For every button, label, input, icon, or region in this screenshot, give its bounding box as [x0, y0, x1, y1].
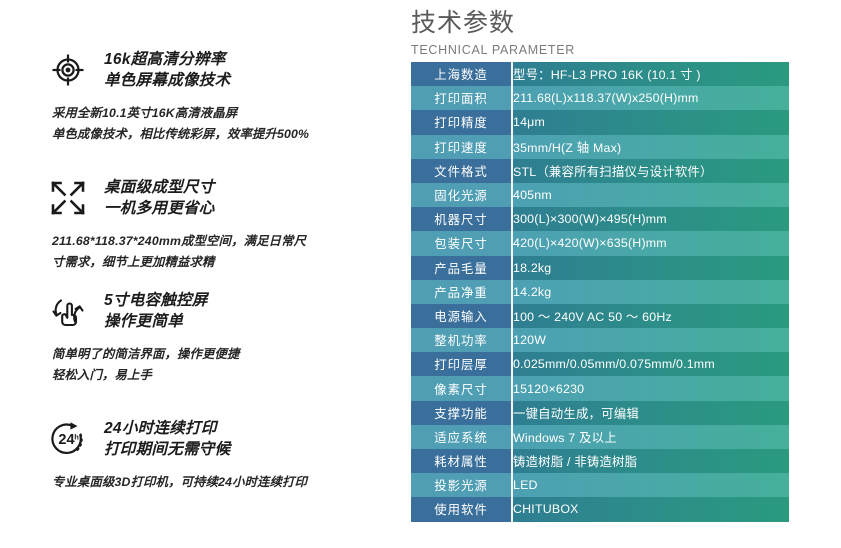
spec-row-value: 18.2kg [512, 256, 789, 280]
spec-row-value: 型号：HF-L3 PRO 16K (10.1 寸 ) [512, 62, 789, 86]
feature-title-line: 一机多用更省心 [104, 198, 215, 219]
spec-row: 整机功率120W [411, 328, 789, 352]
spec-row: 文件格式STL（兼容所有扫描仪与设计软件） [411, 159, 789, 183]
expand-arrows-icon [46, 176, 90, 220]
spec-row: 打印层厚0.025mm/0.05mm/0.075mm/0.1mm [411, 352, 789, 376]
spec-row-value: CHITUBOX [512, 497, 789, 521]
spec-row-value: 211.68(L)x118.37(W)x250(H)mm [512, 86, 789, 110]
spec-row-value: 100 ～ 240V AC 50 ～ 60Hz [512, 304, 789, 328]
spec-row: 上海数造型号：HF-L3 PRO 16K (10.1 寸 ) [411, 62, 789, 86]
svg-text:24: 24 [58, 432, 74, 448]
spec-row-value: 300(L)×300(W)×495(H)mm [512, 207, 789, 231]
spec-row-label: 包装尺寸 [411, 231, 512, 255]
spec-row-value: 一键自动生成，可编辑 [512, 401, 789, 425]
spec-row-value: LED [512, 473, 789, 497]
spec-row: 适应系统Windows 7 及以上 [411, 425, 789, 449]
spec-row-label: 整机功率 [411, 328, 512, 352]
feature-heading: 桌面级成型尺寸 一机多用更省心 [46, 176, 386, 220]
spec-row: 固化光源405nm [411, 183, 789, 207]
feature-block-24h-printing: 24 h 24小时连续打印 打印期间无需守候 专业桌面级3D打印机，可持续24小… [46, 417, 386, 493]
feature-title: 桌面级成型尺寸 一机多用更省心 [104, 177, 215, 219]
spec-row-label: 固化光源 [411, 183, 512, 207]
spec-row-label: 产品毛量 [411, 256, 512, 280]
feature-description: 采用全新10.1英寸16K高清液晶屏 单色成像技术，相比传统彩屏，效率提升500… [52, 103, 386, 145]
spec-title-english: TECHNICAL PARAMETER [411, 42, 575, 58]
spec-row-value: 14.2kg [512, 280, 789, 304]
features-column: 16k超高清分辨率 单色屏幕成像技术 采用全新10.1英寸16K高清液晶屏 单色… [0, 0, 400, 548]
spec-row-label: 产品净重 [411, 280, 512, 304]
spec-row-label: 打印面积 [411, 86, 512, 110]
spec-row-value: Windows 7 及以上 [512, 425, 789, 449]
spec-row: 机器尺寸300(L)×300(W)×495(H)mm [411, 207, 789, 231]
spec-row-value: 120W [512, 328, 789, 352]
svg-text:h: h [74, 433, 79, 442]
feature-title: 5寸电容触控屏 操作更简单 [104, 290, 208, 332]
feature-title-line: 桌面级成型尺寸 [104, 177, 215, 198]
spec-row: 产品净重14.2kg [411, 280, 789, 304]
spec-row-value: 405nm [512, 183, 789, 207]
feature-block-touchscreen: 5寸电容触控屏 操作更简单 简单明了的简洁界面，操作更便捷 轻松入门，易上手 [46, 289, 386, 386]
feature-heading: 5寸电容触控屏 操作更简单 [46, 289, 386, 333]
spec-row-label: 投影光源 [411, 473, 512, 497]
spec-row: 包装尺寸420(L)×420(W)×635(H)mm [411, 231, 789, 255]
feature-description: 211.68*118.37*240mm成型空间，满足日常尺 寸需求，细节上更加精… [52, 231, 386, 273]
specification-table-body: 上海数造型号：HF-L3 PRO 16K (10.1 寸 )打印面积211.68… [411, 62, 789, 522]
spec-row-label: 适应系统 [411, 425, 512, 449]
spec-row-value: 铸造树脂 / 非铸造树脂 [512, 449, 789, 473]
feature-desc-line: 简单明了的简洁界面，操作更便捷 [52, 344, 386, 365]
spec-header: 技术参数 TECHNICAL PARAMETER [411, 8, 575, 58]
feature-description: 简单明了的简洁界面，操作更便捷 轻松入门，易上手 [52, 344, 386, 386]
spec-row: 使用软件CHITUBOX [411, 497, 789, 521]
spec-row-label: 打印精度 [411, 110, 512, 134]
feature-desc-line: 专业桌面级3D打印机，可持续24小时连续打印 [52, 472, 386, 493]
feature-title: 24小时连续打印 打印期间无需守候 [104, 418, 230, 460]
spec-row-label: 打印速度 [411, 135, 512, 159]
spec-row-label: 电源输入 [411, 304, 512, 328]
spec-row-value: STL（兼容所有扫描仪与设计软件） [512, 159, 789, 183]
feature-title-line: 操作更简单 [104, 311, 208, 332]
feature-title-line: 打印期间无需守候 [104, 439, 230, 460]
touch-gesture-icon [46, 289, 90, 333]
feature-title-line: 单色屏幕成像技术 [104, 70, 230, 91]
spec-row-value: 15120×6230 [512, 376, 789, 400]
spec-row-label: 上海数造 [411, 62, 512, 86]
feature-desc-line: 寸需求，细节上更加精益求精 [52, 252, 386, 273]
spec-row-label: 像素尺寸 [411, 376, 512, 400]
spec-row-value: 14μm [512, 110, 789, 134]
crosshair-target-icon [46, 48, 90, 92]
spec-row: 像素尺寸15120×6230 [411, 376, 789, 400]
feature-description: 专业桌面级3D打印机，可持续24小时连续打印 [52, 472, 386, 493]
spec-row-label: 使用软件 [411, 497, 512, 521]
twentyfour-hour-icon: 24 h [46, 417, 90, 461]
spec-row: 打印速度35mm/H(Z 轴 Max) [411, 135, 789, 159]
spec-row-label: 打印层厚 [411, 352, 512, 376]
feature-block-build-size: 桌面级成型尺寸 一机多用更省心 211.68*118.37*240mm成型空间，… [46, 176, 386, 273]
feature-title-line: 24小时连续打印 [104, 418, 230, 439]
spec-row-value: 420(L)×420(W)×635(H)mm [512, 231, 789, 255]
specification-table: 上海数造型号：HF-L3 PRO 16K (10.1 寸 )打印面积211.68… [411, 62, 789, 522]
feature-heading: 24 h 24小时连续打印 打印期间无需守候 [46, 417, 386, 461]
feature-desc-line: 采用全新10.1英寸16K高清液晶屏 [52, 103, 386, 124]
spec-row-value: 35mm/H(Z 轴 Max) [512, 135, 789, 159]
feature-desc-line: 单色成像技术，相比传统彩屏，效率提升500% [52, 124, 386, 145]
feature-title: 16k超高清分辨率 单色屏幕成像技术 [104, 49, 230, 91]
spec-row: 打印面积211.68(L)x118.37(W)x250(H)mm [411, 86, 789, 110]
feature-desc-line: 轻松入门，易上手 [52, 365, 386, 386]
spec-row: 投影光源LED [411, 473, 789, 497]
feature-heading: 16k超高清分辨率 单色屏幕成像技术 [46, 48, 386, 92]
feature-title-line: 5寸电容触控屏 [104, 290, 208, 311]
spec-row: 耗材属性铸造树脂 / 非铸造树脂 [411, 449, 789, 473]
spec-row: 支撑功能一键自动生成，可编辑 [411, 401, 789, 425]
spec-title-chinese: 技术参数 [411, 8, 575, 39]
spec-row: 打印精度14μm [411, 110, 789, 134]
feature-block-resolution: 16k超高清分辨率 单色屏幕成像技术 采用全新10.1英寸16K高清液晶屏 单色… [46, 48, 386, 145]
spec-row-label: 机器尺寸 [411, 207, 512, 231]
spec-column: 技术参数 TECHNICAL PARAMETER 上海数造型号：HF-L3 PR… [400, 0, 841, 548]
spec-row-label: 文件格式 [411, 159, 512, 183]
spec-row-label: 支撑功能 [411, 401, 512, 425]
spec-row: 产品毛量18.2kg [411, 256, 789, 280]
feature-title-line: 16k超高清分辨率 [104, 49, 230, 70]
spec-row-label: 耗材属性 [411, 449, 512, 473]
feature-desc-line: 211.68*118.37*240mm成型空间，满足日常尺 [52, 231, 386, 252]
spec-row-value: 0.025mm/0.05mm/0.075mm/0.1mm [512, 352, 789, 376]
spec-row: 电源输入100 ～ 240V AC 50 ～ 60Hz [411, 304, 789, 328]
